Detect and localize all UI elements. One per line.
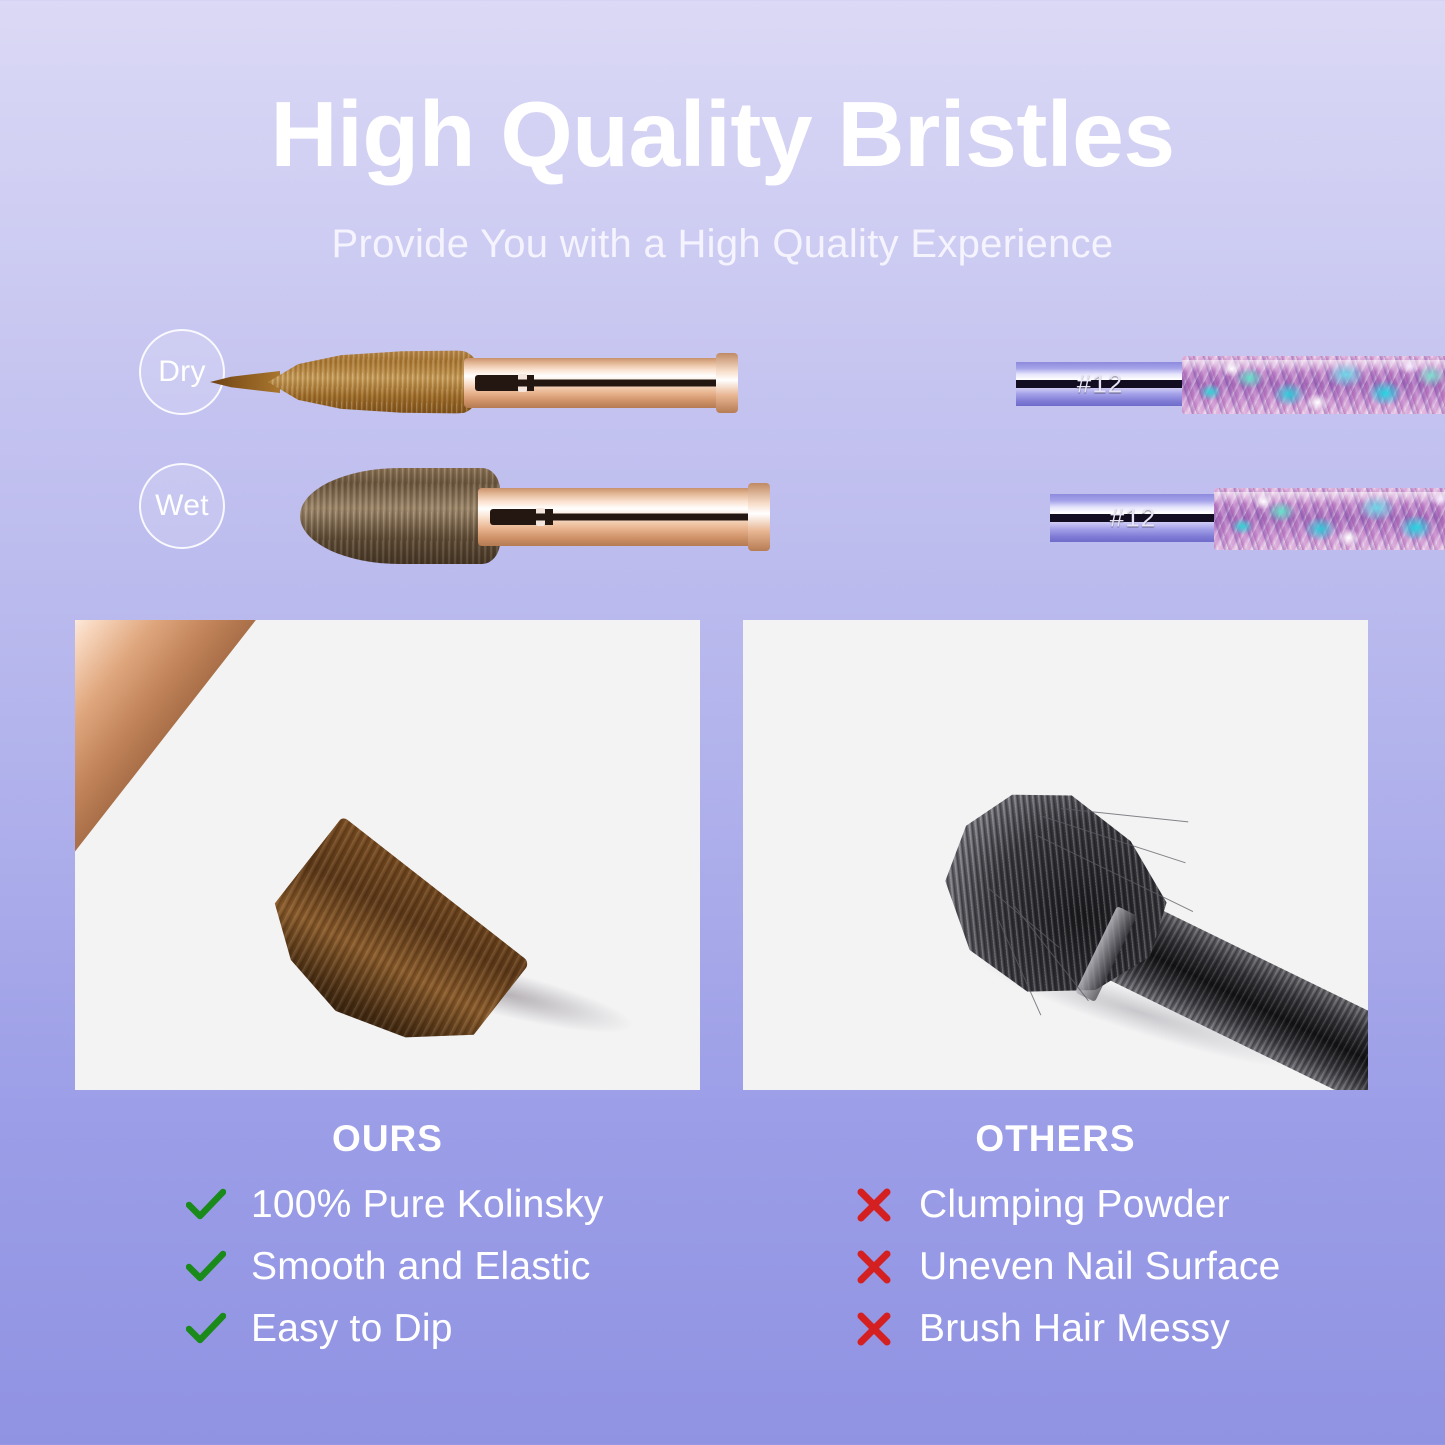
cross-icon xyxy=(853,1187,895,1223)
ferrule-crimp-line xyxy=(490,514,766,521)
glitter-handle-dry xyxy=(1182,356,1445,414)
check-icon xyxy=(185,1312,227,1346)
ours-heading: OURS xyxy=(75,1118,700,1160)
rose-gold-handle-icon xyxy=(75,620,264,1090)
list-item: Easy to Dip xyxy=(185,1298,700,1360)
bristle-head-dry-icon xyxy=(268,350,483,414)
brush-size-label-wet: #12 xyxy=(1050,503,1216,534)
glitter-handle-wet xyxy=(1214,488,1445,550)
glitter-gloss xyxy=(1182,360,1445,372)
state-badge-wet: Wet xyxy=(139,463,225,549)
ferrule-collar xyxy=(716,353,738,413)
cross-icon xyxy=(853,1311,895,1347)
check-icon xyxy=(185,1188,227,1222)
ours-feature-list: 100% Pure Kolinsky Smooth and Elastic Ea… xyxy=(75,1174,700,1360)
neat-bristle-icon xyxy=(246,816,531,1087)
barrel-dry: #12 xyxy=(1016,362,1184,406)
ferrule-wet xyxy=(478,488,766,546)
list-item: Brush Hair Messy xyxy=(853,1298,1368,1360)
ours-brush-photo xyxy=(75,620,700,1090)
feature-label: Brush Hair Messy xyxy=(919,1307,1230,1351)
barrel-wet: #12 xyxy=(1050,494,1216,542)
page-title: High Quality Bristles xyxy=(0,86,1445,184)
list-item: Smooth and Elastic xyxy=(185,1236,700,1298)
others-heading: OTHERS xyxy=(743,1118,1368,1160)
state-badge-dry: Dry xyxy=(139,329,225,415)
bristle-head-wet-icon xyxy=(300,468,500,564)
ferrule-collar xyxy=(748,483,770,551)
feature-label: Smooth and Elastic xyxy=(251,1245,591,1289)
state-badge-dry-label: Dry xyxy=(158,355,206,389)
others-brush-photo xyxy=(743,620,1368,1090)
list-item: 100% Pure Kolinsky xyxy=(185,1174,700,1236)
feature-label: Clumping Powder xyxy=(919,1183,1230,1227)
feature-label: Easy to Dip xyxy=(251,1307,453,1351)
state-badge-wet-label: Wet xyxy=(155,489,209,523)
comparison-column-others: OTHERS Clumping Powder Uneven Nail Surfa… xyxy=(743,1118,1368,1360)
comparison-column-ours: OURS 100% Pure Kolinsky Smooth and Elast… xyxy=(75,1118,700,1360)
page-subtitle: Provide You with a High Quality Experien… xyxy=(0,222,1445,267)
brush-row-dry: Dry #12 xyxy=(0,318,1445,448)
brush-illustration-wet: #12 xyxy=(300,452,1358,582)
brush-size-label-dry: #12 xyxy=(1016,369,1184,400)
list-item: Clumping Powder xyxy=(853,1174,1368,1236)
ferrule-dry xyxy=(464,358,734,408)
others-feature-list: Clumping Powder Uneven Nail Surface Brus… xyxy=(743,1174,1368,1360)
feature-label: Uneven Nail Surface xyxy=(919,1245,1280,1289)
list-item: Uneven Nail Surface xyxy=(853,1236,1368,1298)
ferrule-crimp-line xyxy=(475,380,734,387)
check-icon xyxy=(185,1250,227,1284)
handle-highlight xyxy=(75,620,153,1003)
brush-row-wet: Wet #12 xyxy=(0,452,1445,582)
cross-icon xyxy=(853,1249,895,1285)
feature-label: 100% Pure Kolinsky xyxy=(251,1183,604,1227)
brush-illustration-dry: #12 xyxy=(268,318,1358,448)
glitter-gloss xyxy=(1214,492,1445,504)
